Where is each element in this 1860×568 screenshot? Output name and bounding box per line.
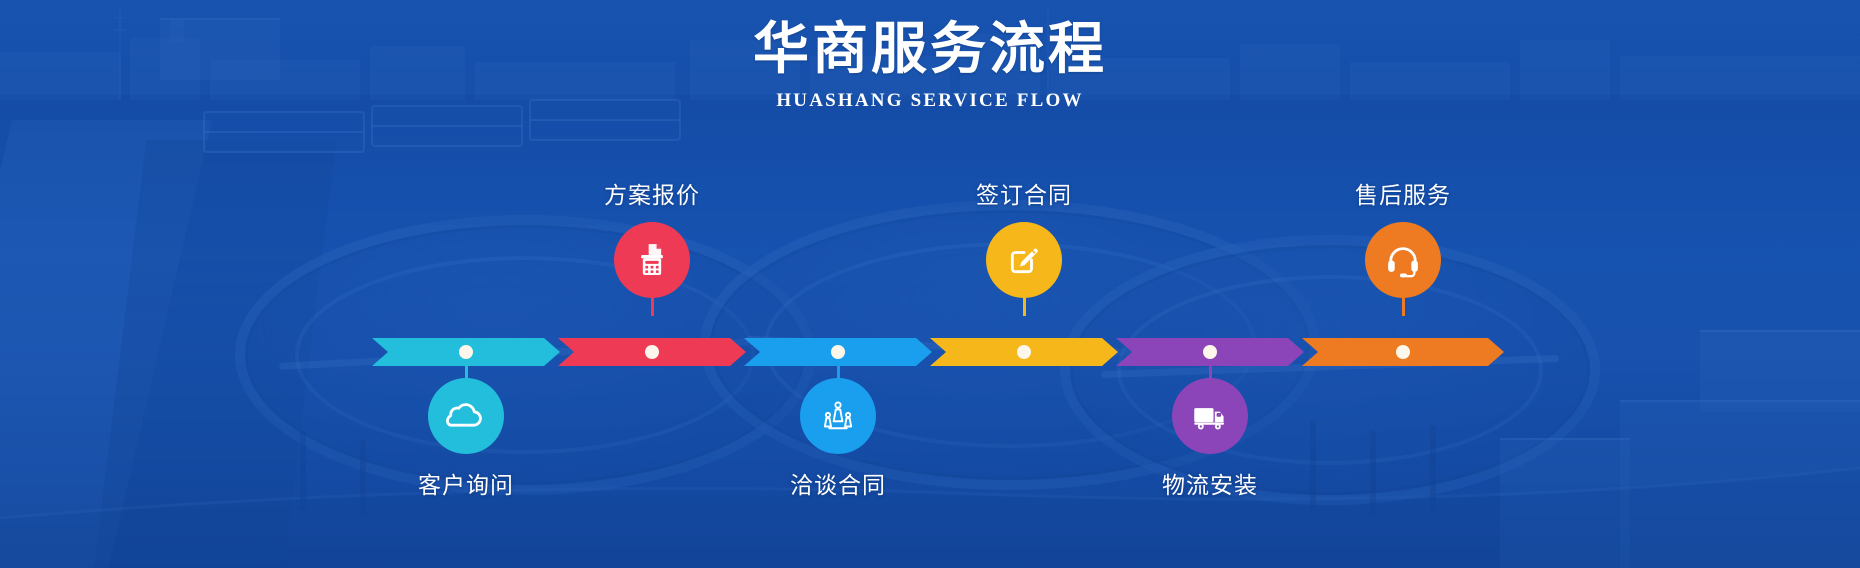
flow-step-label: 物流安装 bbox=[1120, 466, 1300, 500]
flow-step-label: 售后服务 bbox=[1313, 176, 1493, 210]
page-subtitle: HUASHANG SERVICE FLOW bbox=[0, 90, 1860, 112]
calculator-receipt-icon bbox=[632, 240, 672, 280]
pen-edit-icon bbox=[1004, 240, 1044, 280]
flow-icon-bubble[interactable] bbox=[800, 378, 876, 454]
flow-node-dot bbox=[1396, 345, 1410, 359]
flow-node-dot bbox=[1203, 345, 1217, 359]
flow-node-dot bbox=[1017, 345, 1031, 359]
delivery-truck-icon bbox=[1189, 395, 1231, 437]
flow-node-dot bbox=[831, 345, 845, 359]
flow-step-label: 签订合同 bbox=[934, 176, 1114, 210]
flow-step-label: 方案报价 bbox=[562, 176, 742, 210]
flow-step-label: 洽谈合同 bbox=[748, 466, 928, 500]
banner-heading: 华商服务流程 HUASHANG SERVICE FLOW bbox=[0, 0, 1860, 112]
meeting-table-icon bbox=[817, 395, 859, 437]
flow-icon-bubble[interactable] bbox=[1172, 378, 1248, 454]
flow-icon-bubble[interactable] bbox=[1365, 222, 1441, 298]
flow-arrow-bar: 客户询问 bbox=[372, 338, 1504, 366]
cloud-icon bbox=[445, 395, 487, 437]
flow-icon-bubble[interactable] bbox=[428, 378, 504, 454]
flow-icon-bubble[interactable] bbox=[986, 222, 1062, 298]
flow-node-dot bbox=[645, 345, 659, 359]
headset-support-icon bbox=[1382, 239, 1424, 281]
flow-icon-bubble[interactable] bbox=[614, 222, 690, 298]
flow-node-dot bbox=[459, 345, 473, 359]
service-flow-banner: 华商服务流程 HUASHANG SERVICE FLOW 客户询问 bbox=[0, 0, 1860, 568]
page-title: 华商服务流程 bbox=[0, 0, 1860, 80]
flow-step-label: 客户询问 bbox=[376, 466, 556, 500]
